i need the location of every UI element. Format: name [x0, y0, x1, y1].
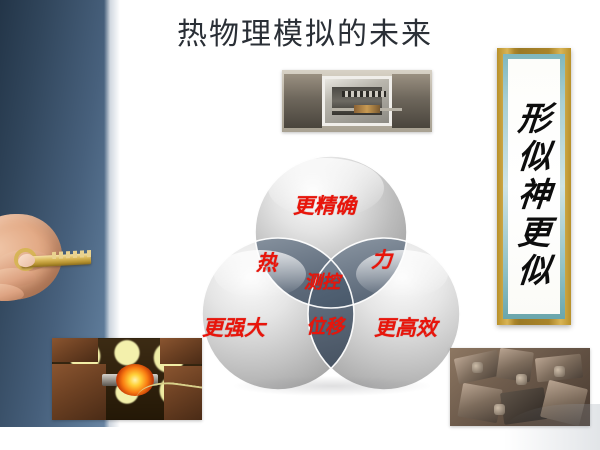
bolt-head	[494, 404, 505, 415]
chamber-interior	[332, 87, 382, 115]
venn-label-bottom-overlap: 位移	[306, 318, 344, 337]
die-upper-left	[52, 338, 98, 362]
venn-label-bottom-left: 更强大	[202, 317, 265, 338]
hot-specimen-photo	[52, 338, 202, 420]
venn-label-center: 测控	[304, 274, 340, 292]
calligraphy-scroll: 形 似 神 更 似	[497, 48, 571, 325]
die-lower-left	[52, 364, 106, 420]
machine-cabinet-left	[284, 74, 322, 128]
specimen-block	[354, 105, 380, 113]
venn-label-bottom-right: 更高效	[374, 317, 437, 338]
scroll-paper: 形 似 神 更 似	[508, 59, 560, 314]
scroll-char-2: 似	[516, 138, 552, 176]
scroll-char-3: 神	[516, 176, 552, 214]
slide-canvas: 热物理模拟的未来	[0, 0, 600, 450]
scroll-char-4: 更	[516, 214, 552, 252]
page-title: 热物理模拟的未来	[140, 16, 470, 54]
bolt-head	[516, 374, 527, 385]
venn-shadow	[234, 376, 430, 396]
venn-label-top: 更精确	[293, 195, 356, 216]
scroll-char-1: 形	[516, 100, 552, 138]
venn-diagram: 更精确 热 力 测控 更强大 位移 更高效	[198, 148, 464, 396]
machine-part	[457, 383, 502, 423]
scroll-mat: 形 似 神 更 似	[503, 54, 565, 319]
chamber-label-strip	[342, 91, 386, 97]
venn-label-left-overlap: 热	[256, 252, 277, 273]
machine-part	[496, 348, 534, 382]
machine-cabinet-right	[392, 74, 430, 128]
die-upper-right	[160, 338, 202, 364]
bolt-head	[554, 366, 565, 377]
venn-label-right-overlap: 力	[371, 249, 392, 270]
test-chamber	[322, 76, 392, 126]
scroll-char-5: 似	[516, 252, 552, 290]
bolt-head	[472, 362, 483, 373]
hand-holding-key-photo	[0, 198, 111, 308]
thermal-simulation-machine-photo	[282, 70, 432, 132]
